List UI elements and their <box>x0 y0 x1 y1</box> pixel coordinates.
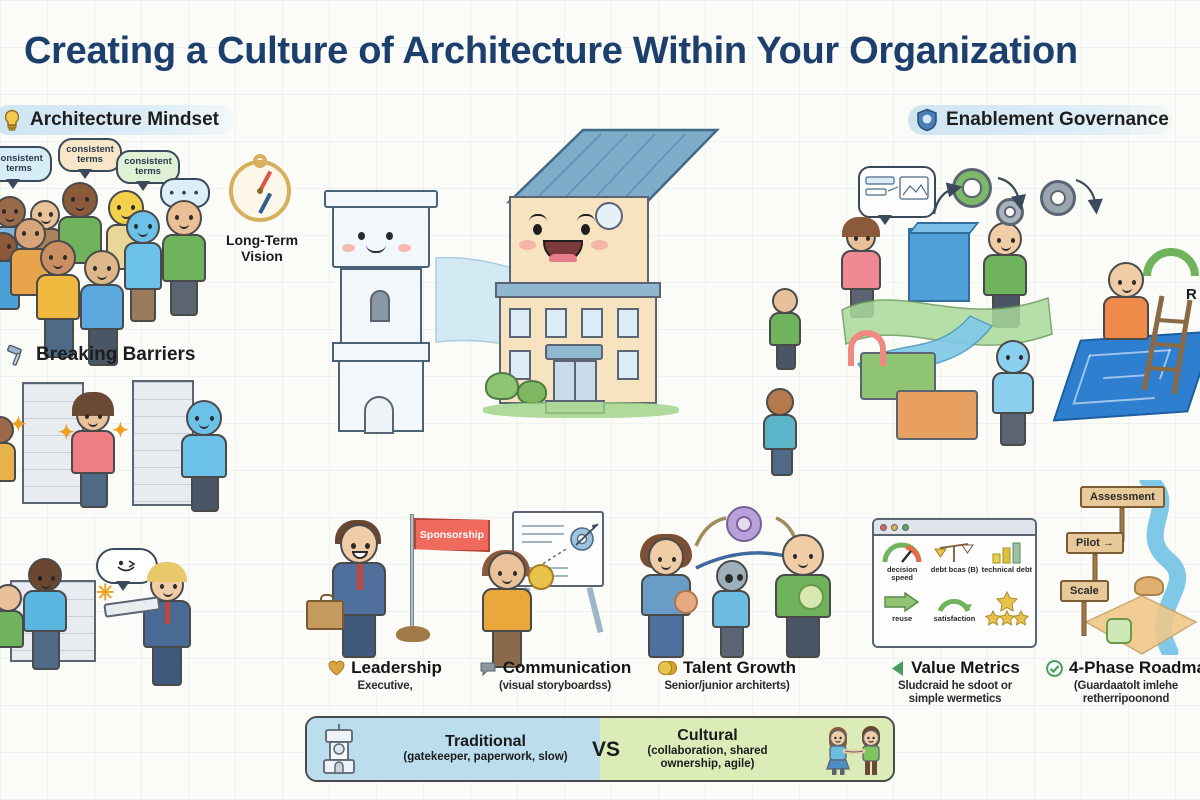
flag-base-dirt <box>396 626 430 642</box>
tower-icon <box>317 723 361 775</box>
bubble-text: consistent terms <box>64 145 116 165</box>
window <box>617 308 639 338</box>
window <box>617 350 639 380</box>
shield-icon <box>916 108 938 132</box>
feature-subtitle: (visual storyboardss) <box>470 680 640 693</box>
feature-leadership: Leadership Executive, <box>300 658 470 693</box>
banner-cultural-title: Cultural <box>600 727 815 745</box>
briefcase-icon <box>306 600 344 630</box>
feature-title: Talent Growth <box>683 658 796 678</box>
feature-heading: Communication <box>470 658 640 678</box>
bubble-text: consistent terms <box>122 157 174 177</box>
metric-label: reuse <box>892 615 912 623</box>
banner-cultural-subtitle: (collaboration, shared ownership, agile) <box>600 745 815 771</box>
vs-separator: VS <box>592 738 620 762</box>
section-badge-architecture-mindset: Architecture Mindset <box>0 105 235 135</box>
window <box>509 308 531 338</box>
dashboard-metric-grid: decision speed debt bcas (B) technical d… <box>874 536 1035 646</box>
flag-pole <box>410 514 414 632</box>
metric-stars <box>981 591 1033 642</box>
lightbulb-icon <box>2 109 22 131</box>
handshake-people-icon <box>821 722 887 776</box>
banner-traditional-subtitle: (gatekeeper, paperwork, slow) <box>371 751 600 764</box>
round-window <box>595 202 623 230</box>
metric-label: debt bcas (B) <box>931 566 979 574</box>
ivory-tower-illustration <box>320 190 442 435</box>
hammer-icon <box>6 344 28 366</box>
banner-traditional-title: Traditional <box>371 733 600 751</box>
feature-communication: Communication (visual storyboardss) <box>470 658 640 693</box>
impact-spark: ✳ <box>96 580 114 606</box>
shrub <box>517 380 547 404</box>
metric-satisfaction: satisfaction <box>928 591 980 642</box>
flag-label: Sponsorship <box>420 529 484 541</box>
feature-title: Communication <box>503 658 631 678</box>
arch-marker <box>848 330 886 366</box>
section-badge-label: Architecture Mindset <box>30 109 219 131</box>
sign-label: Assessment <box>1080 486 1165 508</box>
metric-technical-debt: technical debt <box>981 540 1033 591</box>
gear-cycle-arrows <box>928 166 1108 226</box>
feature-four-phase-roadmap: 4-Phase Roadmap (Guardaatolt imlehe reth… <box>1046 658 1200 706</box>
bar-chart-icon <box>987 540 1027 564</box>
arc-gauge-icon <box>1142 238 1200 282</box>
speech-bubble-consistent-terms-1: consistent terms <box>0 146 52 182</box>
compass-label: Long-Term Vision <box>212 232 312 264</box>
diagram-speech-bubble <box>858 166 936 218</box>
feature-title: 4-Phase Roadmap <box>1069 658 1200 678</box>
shrub <box>485 372 519 400</box>
gauge-icon <box>882 540 922 564</box>
feature-heading: Value Metrics <box>872 658 1038 678</box>
feature-heading: 4-Phase Roadmap <box>1046 658 1200 678</box>
metric-decision-speed: decision speed <box>876 540 928 591</box>
section-badge-enablement-governance: Enablement Governance <box>908 105 1173 135</box>
coin-icon <box>658 660 677 676</box>
achievement-badge <box>798 584 824 610</box>
sign-label: Pilot → <box>1066 532 1124 554</box>
feature-subtitle: Sludcraid he sdoot or simple wermetics <box>872 680 1038 706</box>
sponsorship-flag: Sponsorship <box>414 518 490 552</box>
compass-icon <box>229 160 291 222</box>
grass <box>483 402 679 418</box>
heart-icon <box>328 660 345 676</box>
section-badge-breaking-barriers: Breaking Barriers <box>6 340 195 370</box>
metric-label: technical debt <box>982 566 1032 574</box>
window-dot-green <box>902 524 909 531</box>
door-awning <box>545 344 603 360</box>
feature-heading: Talent Growth <box>642 658 812 678</box>
section-badge-label: Enablement Governance <box>946 109 1169 131</box>
page-title: Creating a Culture of Architecture Withi… <box>24 30 1200 73</box>
check-circle-icon <box>1046 660 1063 677</box>
target-icon <box>566 521 602 553</box>
bubble-text: • • • <box>170 186 201 200</box>
window <box>545 308 567 338</box>
metric-debt-balance: debt bcas (B) <box>928 540 980 591</box>
speech-bubble-consistent-terms-2: consistent terms <box>58 138 122 172</box>
value-metrics-dashboard: decision speed debt bcas (B) technical d… <box>872 518 1037 648</box>
metric-label: satisfaction <box>934 615 976 623</box>
section-badge-label: Breaking Barriers <box>36 344 195 366</box>
banner-cultural-half: Cultural (collaboration, shared ownershi… <box>600 718 893 780</box>
window <box>581 308 603 338</box>
dashboard-titlebar <box>874 520 1035 536</box>
arc-gauge-icon <box>934 591 974 613</box>
roadmap-marker <box>1134 576 1164 596</box>
window-dot-red <box>880 524 887 531</box>
arrow-right-icon <box>882 591 922 613</box>
held-object <box>674 590 698 614</box>
feature-talent-growth: Talent Growth Senior/junior architerts) <box>642 658 812 693</box>
coin-icon <box>528 564 554 590</box>
stars-icon <box>985 591 1029 627</box>
speech-bubble-icon <box>479 661 497 676</box>
feature-subtitle: Executive, <box>300 680 470 693</box>
feature-heading: Leadership <box>300 658 470 678</box>
ladder-icon <box>1136 290 1200 398</box>
feature-title: Value Metrics <box>911 658 1020 678</box>
metric-reuse: reuse <box>876 591 928 642</box>
puzzle-piece-orange <box>896 390 978 440</box>
signpost-scale: Scale <box>1060 580 1109 602</box>
infographic-canvas: Creating a Culture of Architecture Withi… <box>0 0 1200 800</box>
signpost-assessment: Assessment <box>1080 486 1165 508</box>
feature-subtitle: (Guardaatolt imlehe retherripoonond <box>1046 680 1200 706</box>
window-dot-yellow <box>891 524 898 531</box>
bubble-text: consistent terms <box>0 154 46 174</box>
metric-label: decision speed <box>876 566 928 582</box>
scales-icon <box>934 540 974 564</box>
feature-title: Leadership <box>351 658 442 678</box>
sign-label: Scale <box>1060 580 1109 602</box>
banner-traditional-half: Traditional (gatekeeper, paperwork, slow… <box>307 718 600 780</box>
roadmap-tile <box>1106 618 1132 644</box>
feature-value-metrics: Value Metrics Sludcraid he sdoot or simp… <box>872 658 1038 706</box>
chevron-left-icon <box>890 660 905 677</box>
signpost-pilot: Pilot → <box>1066 532 1124 554</box>
welcoming-house-illustration <box>487 128 737 418</box>
feature-subtitle: Senior/junior architerts) <box>642 680 812 693</box>
